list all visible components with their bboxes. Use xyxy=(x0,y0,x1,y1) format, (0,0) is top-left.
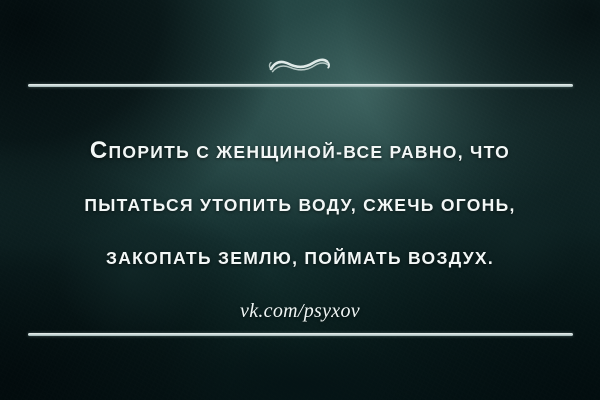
quote-card: СПОРИТЬ С ЖЕНЩИНОЙ-ВСЕ РАВНО, ЧТО ПЫТАТЬ… xyxy=(0,0,600,400)
quote-line-3: ЗАКОПАТЬ ЗЕМЛЮ, ПОЙМАТЬ ВОЗДУХ. xyxy=(0,232,600,285)
quote-line-1: СПОРИТЬ С ЖЕНЩИНОЙ-ВСЕ РАВНО, ЧТО xyxy=(0,124,600,179)
card-content: СПОРИТЬ С ЖЕНЩИНОЙ-ВСЕ РАВНО, ЧТО ПЫТАТЬ… xyxy=(0,0,600,400)
quote-dropcap: С xyxy=(90,137,109,164)
quote-line-1-text: ПОРИТЬ С ЖЕНЩИНОЙ-ВСЕ РАВНО, ЧТО xyxy=(109,142,511,162)
quote-text: СПОРИТЬ С ЖЕНЩИНОЙ-ВСЕ РАВНО, ЧТО ПЫТАТЬ… xyxy=(0,124,600,285)
bottom-divider xyxy=(28,333,573,336)
wave-flourish-icon xyxy=(0,52,600,78)
source-signature: vk.com/psyxov xyxy=(0,300,600,323)
top-divider xyxy=(28,84,573,87)
quote-line-2: ПЫТАТЬСЯ УТОПИТЬ ВОДУ, СЖЕЧЬ ОГОНЬ, xyxy=(0,179,600,232)
